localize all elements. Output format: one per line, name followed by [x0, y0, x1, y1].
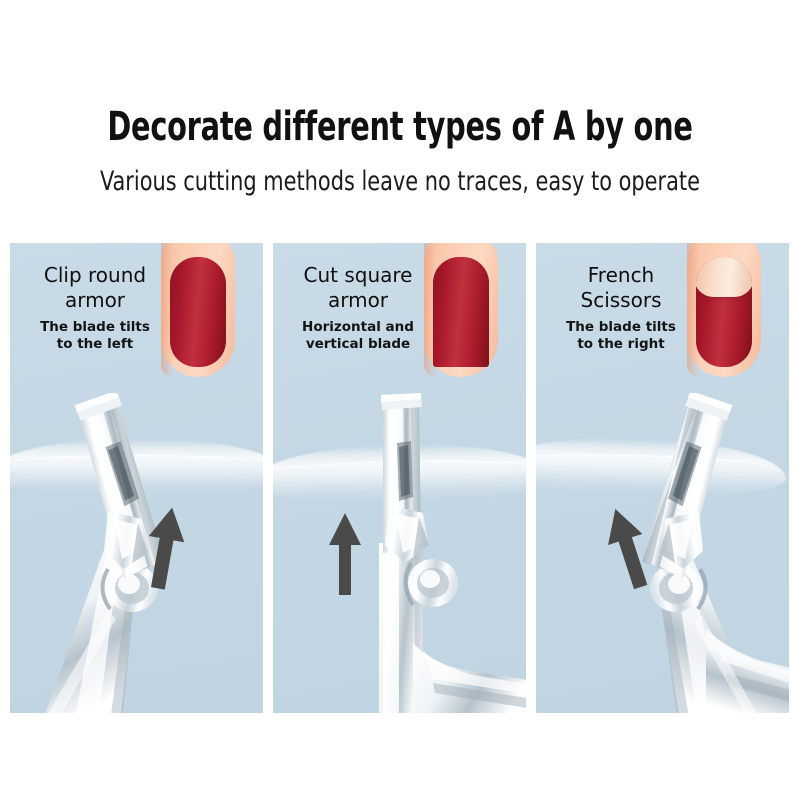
nail-clipper-icon [536, 393, 789, 713]
tip-sheet [273, 442, 526, 504]
direction-arrow-up-icon [325, 511, 365, 597]
nail-tip-strip [10, 439, 263, 495]
tip-sheet [10, 439, 263, 495]
panel-french-scissors[interactable]: French Scissors The blade tilts to the r… [536, 243, 789, 713]
panel-clip-round-armor[interactable]: Clip round armor The blade tilts to the … [10, 243, 263, 713]
panel-row: Clip round armor The blade tilts to the … [10, 243, 790, 713]
tip-edge [273, 458, 526, 488]
panel-title: Clip round armor [10, 263, 180, 313]
nail-tip-strip [536, 435, 787, 499]
panel-title: Cut square armor [273, 263, 443, 313]
tip-sheet [536, 435, 787, 499]
panel-title: French Scissors [536, 263, 706, 313]
panel-subtitle: The blade tilts to the left [10, 319, 180, 353]
panel-subtitle: The blade tilts to the right [536, 319, 706, 353]
panel-caption: Cut square armor Horizontal and vertical… [273, 263, 443, 353]
nail-clipper-icon [283, 393, 526, 713]
nail-tip-strip [273, 442, 526, 504]
page-subtitle: Various cutting methods leave no traces,… [56, 166, 744, 198]
page-title: Decorate different types of A by one [80, 104, 720, 150]
direction-arrow-up-icon [604, 505, 652, 591]
tip-edge [536, 451, 782, 483]
panel-caption: Clip round armor The blade tilts to the … [10, 263, 180, 353]
panel-caption: French Scissors The blade tilts to the r… [536, 263, 706, 353]
tip-edge [10, 455, 263, 479]
page-header: Decorate different types of A by one Var… [0, 0, 800, 225]
panel-cut-square-armor[interactable]: Cut square armor Horizontal and vertical… [273, 243, 526, 713]
direction-arrow-up-icon [142, 505, 188, 591]
nail-clipper-icon [12, 393, 263, 713]
panel-subtitle: Horizontal and vertical blade [273, 319, 443, 353]
